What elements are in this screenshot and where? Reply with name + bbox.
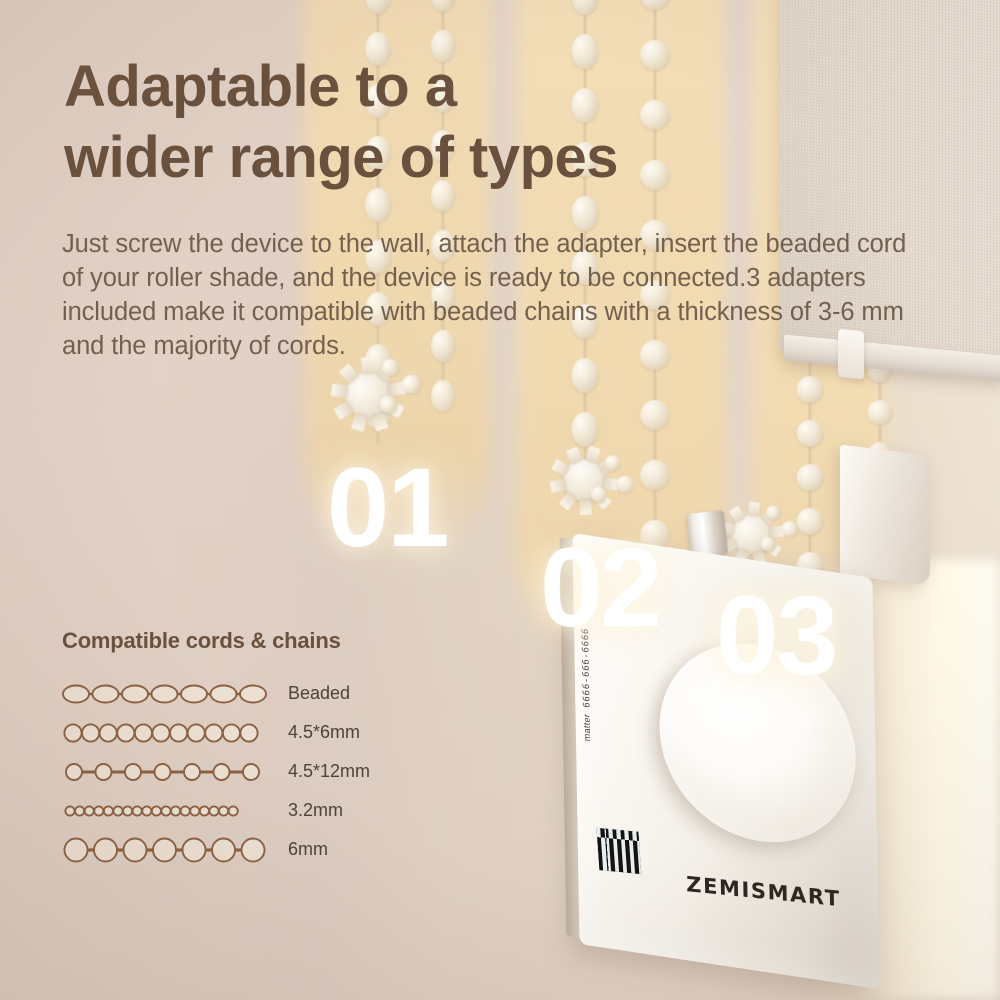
chain-bead [640, 400, 670, 430]
step-number-03: 03 [716, 580, 837, 692]
matter-mark: matter [582, 713, 592, 742]
qr-code-icon [596, 828, 641, 874]
cord-adapter-2 [532, 436, 653, 533]
adapter-bead [615, 475, 635, 495]
chain-bead [572, 0, 599, 15]
compatibility-title: Compatible cords & chains [62, 628, 462, 654]
adapter-bead [781, 520, 799, 538]
product-marketing-image: matter 6666-666-6666 ZEMISMART 01 02 03 … [0, 0, 1000, 1000]
chain-bead [640, 0, 670, 10]
compatibility-label: 4.5*6mm [280, 722, 360, 743]
chain-diagram-micro-round [62, 796, 280, 826]
step-number-02: 02 [540, 532, 661, 644]
chain-bead [797, 376, 824, 403]
headline-line-2: wider range of types [64, 123, 754, 194]
compatibility-row: Beaded [62, 674, 462, 713]
chain-bead [797, 464, 824, 491]
chain-bead [572, 196, 599, 231]
compatibility-label: Beaded [280, 683, 350, 704]
chain-bead [797, 420, 824, 447]
chain-bead [868, 400, 893, 425]
compatibility-rows: Beaded4.5*6mm4.5*12mm3.2mm6mm [62, 674, 462, 869]
description-paragraph: Just screw the device to the wall, attac… [62, 228, 930, 364]
page-title: Adaptable to a wider range of types [64, 52, 754, 194]
chain-diagram-round-touching [62, 718, 280, 748]
compatibility-label: 6mm [280, 839, 328, 860]
wall-bracket [840, 444, 930, 585]
compatibility-label: 3.2mm [280, 800, 343, 821]
compatibility-section: Compatible cords & chains Beaded4.5*6mm4… [62, 628, 462, 869]
chain-diagram-oval-linked [62, 679, 280, 709]
adapter-gear-tooth [748, 502, 760, 517]
adapter-bead [765, 505, 781, 521]
compatibility-row: 3.2mm [62, 791, 462, 830]
adapter-gear-tooth [579, 499, 591, 514]
step-number-01: 01 [327, 452, 448, 564]
chain-bead [431, 0, 455, 12]
headline-line-1: Adaptable to a [64, 52, 754, 123]
chain-diagram-large-round-link [62, 835, 280, 865]
compatibility-row: 4.5*6mm [62, 713, 462, 752]
chain-diagram-round-long-link [62, 757, 280, 787]
compatibility-row: 4.5*12mm [62, 752, 462, 791]
compatibility-row: 6mm [62, 830, 462, 869]
compatibility-label: 4.5*12mm [280, 761, 370, 782]
adapter-gear-tooth [351, 413, 368, 432]
chain-bead [365, 0, 391, 14]
adapter-gear-tooth [550, 478, 567, 493]
adapter-gear-tooth [370, 412, 388, 432]
adapter-gear-tooth [331, 383, 349, 398]
